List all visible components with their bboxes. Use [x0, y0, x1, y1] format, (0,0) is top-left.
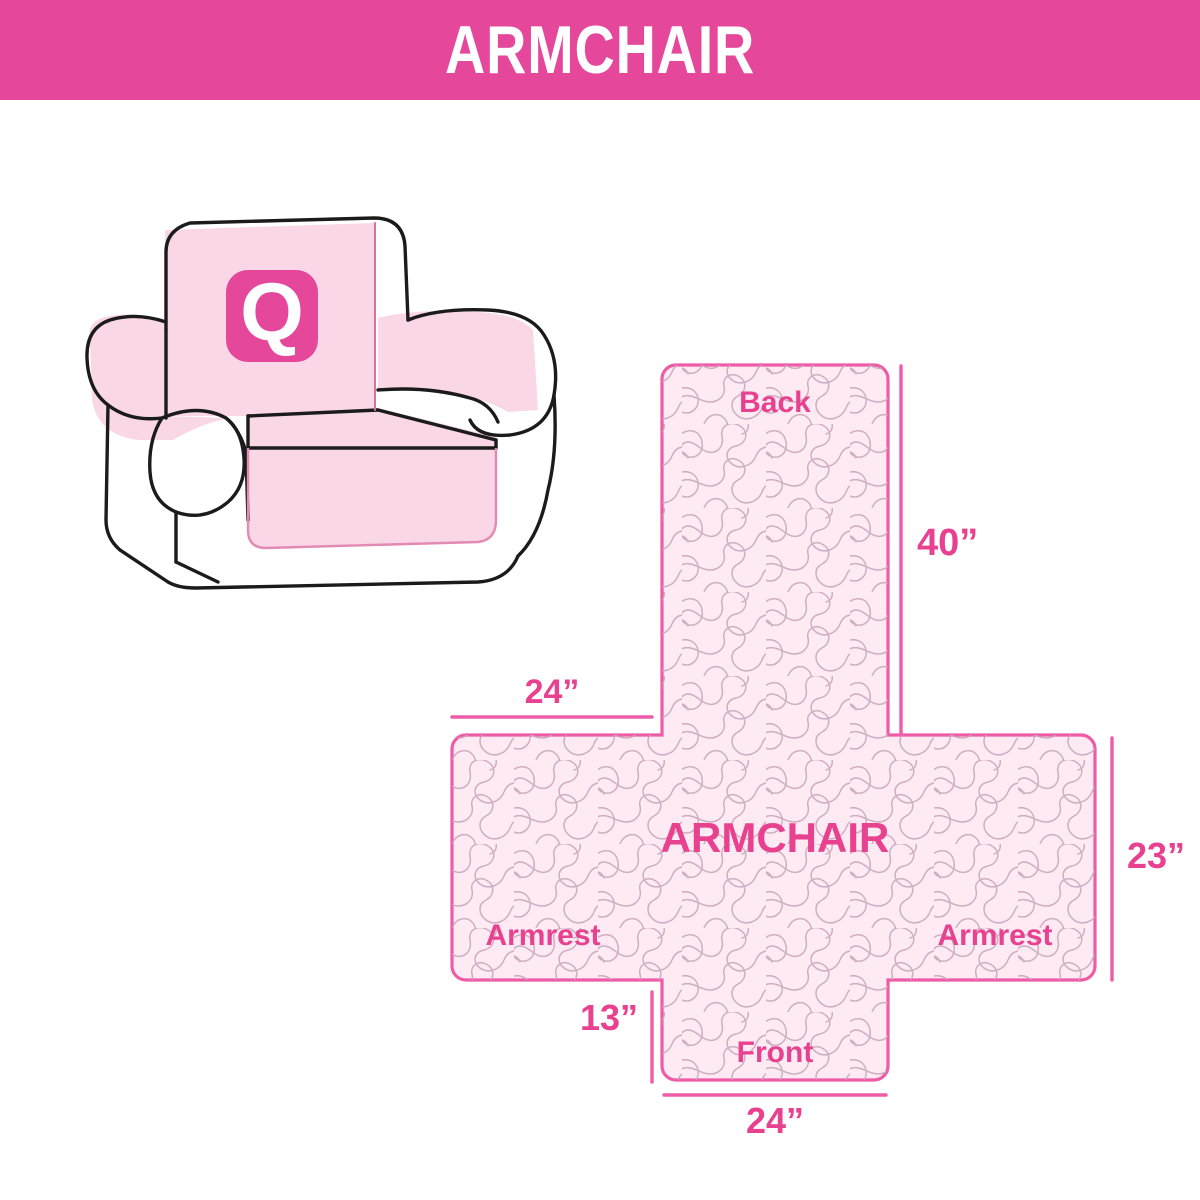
chair-base-skirt	[176, 562, 218, 582]
brand-logo: Q	[226, 267, 318, 362]
page-title: ARMCHAIR	[445, 16, 755, 84]
panel-label-armrest-right: Armrest	[937, 919, 1052, 952]
dimension-label-13in: 13”	[580, 997, 638, 1038]
panel-label-armrest-left: Armrest	[485, 919, 600, 952]
page-header: ARMCHAIR	[0, 0, 1200, 100]
dimension-label-23in: 23”	[1127, 835, 1185, 876]
dimension-label-24in-bottom: 24”	[746, 1100, 804, 1141]
page-root: ARMCHAIR	[0, 0, 1200, 1200]
panel-label-back: Back	[739, 386, 811, 419]
panel-label-center: ARMCHAIR	[661, 814, 890, 861]
dimension-label-40in: 40”	[917, 522, 978, 564]
dimension-label-24in-top: 24”	[525, 673, 580, 711]
slipcover-cutting-diagram: Back ARMCHAIR Armrest Armrest Front 40”	[430, 340, 1200, 1160]
logo-letter-q: Q	[240, 267, 304, 358]
panel-label-front: Front	[737, 1036, 814, 1069]
quilt-texture	[430, 340, 1200, 1160]
